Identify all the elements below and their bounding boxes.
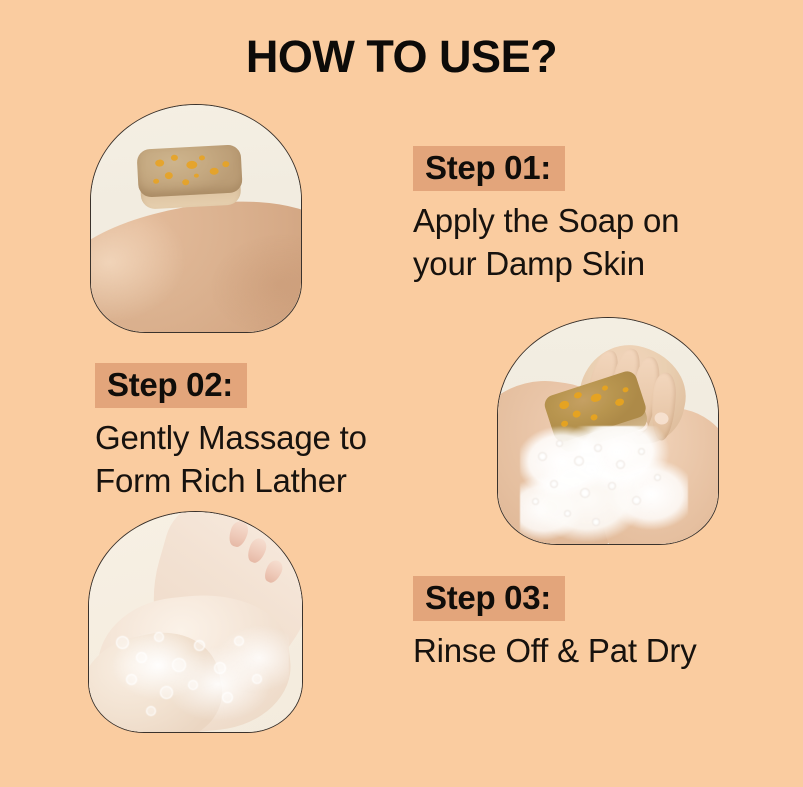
- step-01-line-2: your Damp Skin: [413, 243, 679, 286]
- step-02-line-1: Gently Massage to: [95, 417, 367, 460]
- foam-lather: [520, 426, 688, 544]
- step-02-block: Step 02: Gently Massage to Form Rich Lat…: [95, 363, 367, 502]
- step-01-line-1: Apply the Soap on: [413, 200, 679, 243]
- step-01-body: Apply the Soap on your Damp Skin: [413, 200, 679, 285]
- step-02-line-2: Form Rich Lather: [95, 460, 367, 503]
- step-02-body: Gently Massage to Form Rich Lather: [95, 417, 367, 502]
- step-01-label: Step 01:: [413, 146, 565, 191]
- step-03-body: Rinse Off & Pat Dry: [413, 630, 697, 673]
- step-03-block: Step 03: Rinse Off & Pat Dry: [413, 576, 697, 673]
- soap-top: [136, 144, 242, 197]
- how-to-use-infographic: HOW TO USE?: [0, 0, 803, 787]
- step-03-label: Step 03:: [413, 576, 565, 621]
- foam-lather: [102, 618, 289, 733]
- step-01-photo: [90, 104, 302, 333]
- step-03-photo: [88, 511, 303, 733]
- step-02-label: Step 02:: [95, 363, 247, 408]
- step-01-block: Step 01: Apply the Soap on your Damp Ski…: [413, 146, 679, 285]
- step-02-photo: [497, 317, 719, 545]
- page-title: HOW TO USE?: [0, 31, 803, 83]
- step-03-line-1: Rinse Off & Pat Dry: [413, 630, 697, 673]
- soap-bar: [136, 144, 243, 211]
